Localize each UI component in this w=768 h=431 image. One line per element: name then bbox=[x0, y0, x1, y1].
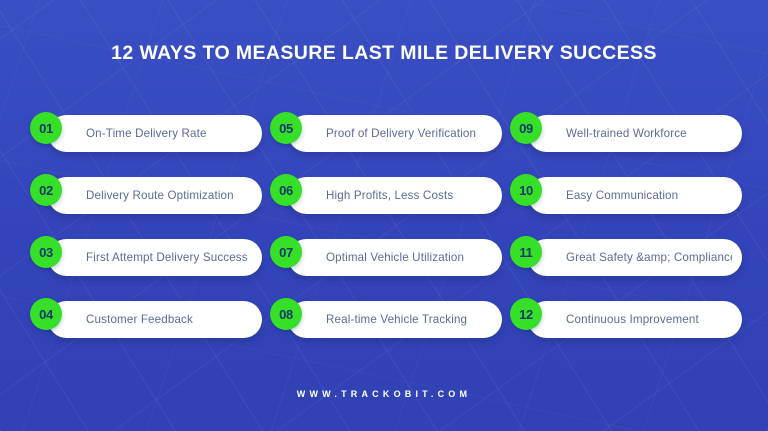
card-body[interactable]: Optimal Vehicle Utilization bbox=[288, 239, 502, 276]
card-label: Great Safety &amp; Compliance bbox=[566, 251, 732, 264]
card-body[interactable]: Continuous Improvement bbox=[528, 301, 742, 338]
number-badge: 08 bbox=[270, 298, 302, 330]
card-label: Continuous Improvement bbox=[566, 313, 699, 326]
page-title: 12 WAYS TO MEASURE LAST MILE DELIVERY SU… bbox=[0, 42, 768, 65]
badge-number: 06 bbox=[279, 184, 293, 197]
card-body[interactable]: Customer Feedback bbox=[48, 301, 262, 338]
list-item[interactable]: 12 Continuous Improvement bbox=[510, 298, 742, 338]
badge-number: 04 bbox=[39, 308, 53, 321]
card-body[interactable]: High Profits, Less Costs bbox=[288, 177, 502, 214]
card-body[interactable]: First Attempt Delivery Success bbox=[48, 239, 262, 276]
badge-number: 10 bbox=[519, 184, 533, 197]
card-body[interactable]: Real-time Vehicle Tracking bbox=[288, 301, 502, 338]
badge-number: 09 bbox=[519, 122, 533, 135]
card-label: Optimal Vehicle Utilization bbox=[326, 251, 464, 264]
card-label: Well-trained Workforce bbox=[566, 127, 687, 140]
card-body[interactable]: On-Time Delivery Rate bbox=[48, 115, 262, 152]
card-body[interactable]: Delivery Route Optimization bbox=[48, 177, 262, 214]
list-item[interactable]: 03 First Attempt Delivery Success bbox=[30, 236, 262, 276]
card-body[interactable]: Easy Communication bbox=[528, 177, 742, 214]
list-item[interactable]: 02 Delivery Route Optimization bbox=[30, 174, 262, 214]
card-label: Real-time Vehicle Tracking bbox=[326, 313, 467, 326]
card-label: First Attempt Delivery Success bbox=[86, 251, 248, 264]
badge-number: 07 bbox=[279, 246, 293, 259]
badge-number: 11 bbox=[519, 246, 532, 259]
list-item[interactable]: 06 High Profits, Less Costs bbox=[270, 174, 502, 214]
number-badge: 11 bbox=[510, 236, 542, 268]
card-label: Easy Communication bbox=[566, 189, 678, 202]
number-badge: 03 bbox=[30, 236, 62, 268]
list-item[interactable]: 07 Optimal Vehicle Utilization bbox=[270, 236, 502, 276]
footer-website: WWW.TRACKOBIT.COM bbox=[0, 389, 768, 399]
list-item[interactable]: 05 Proof of Delivery Verification bbox=[270, 112, 502, 152]
list-item[interactable]: 04 Customer Feedback bbox=[30, 298, 262, 338]
metrics-grid: 01 On-Time Delivery Rate 05 Proof of Del… bbox=[30, 112, 738, 338]
card-label: On-Time Delivery Rate bbox=[86, 127, 207, 140]
card-label: Delivery Route Optimization bbox=[86, 189, 234, 202]
list-item[interactable]: 11 Great Safety &amp; Compliance bbox=[510, 236, 742, 276]
number-badge: 01 bbox=[30, 112, 62, 144]
card-label: High Profits, Less Costs bbox=[326, 189, 453, 202]
number-badge: 09 bbox=[510, 112, 542, 144]
badge-number: 05 bbox=[279, 122, 293, 135]
number-badge: 05 bbox=[270, 112, 302, 144]
card-body[interactable]: Proof of Delivery Verification bbox=[288, 115, 502, 152]
badge-number: 02 bbox=[39, 184, 53, 197]
badge-number: 01 bbox=[39, 122, 53, 135]
list-item[interactable]: 10 Easy Communication bbox=[510, 174, 742, 214]
number-badge: 02 bbox=[30, 174, 62, 206]
badge-number: 12 bbox=[519, 308, 533, 321]
card-body[interactable]: Well-trained Workforce bbox=[528, 115, 742, 152]
number-badge: 12 bbox=[510, 298, 542, 330]
badge-number: 08 bbox=[279, 308, 293, 321]
list-item[interactable]: 08 Real-time Vehicle Tracking bbox=[270, 298, 502, 338]
card-label: Proof of Delivery Verification bbox=[326, 127, 476, 140]
badge-number: 03 bbox=[39, 246, 53, 259]
list-item[interactable]: 09 Well-trained Workforce bbox=[510, 112, 742, 152]
card-body[interactable]: Great Safety &amp; Compliance bbox=[528, 239, 742, 276]
number-badge: 07 bbox=[270, 236, 302, 268]
card-label: Customer Feedback bbox=[86, 313, 193, 326]
number-badge: 10 bbox=[510, 174, 542, 206]
number-badge: 04 bbox=[30, 298, 62, 330]
list-item[interactable]: 01 On-Time Delivery Rate bbox=[30, 112, 262, 152]
number-badge: 06 bbox=[270, 174, 302, 206]
